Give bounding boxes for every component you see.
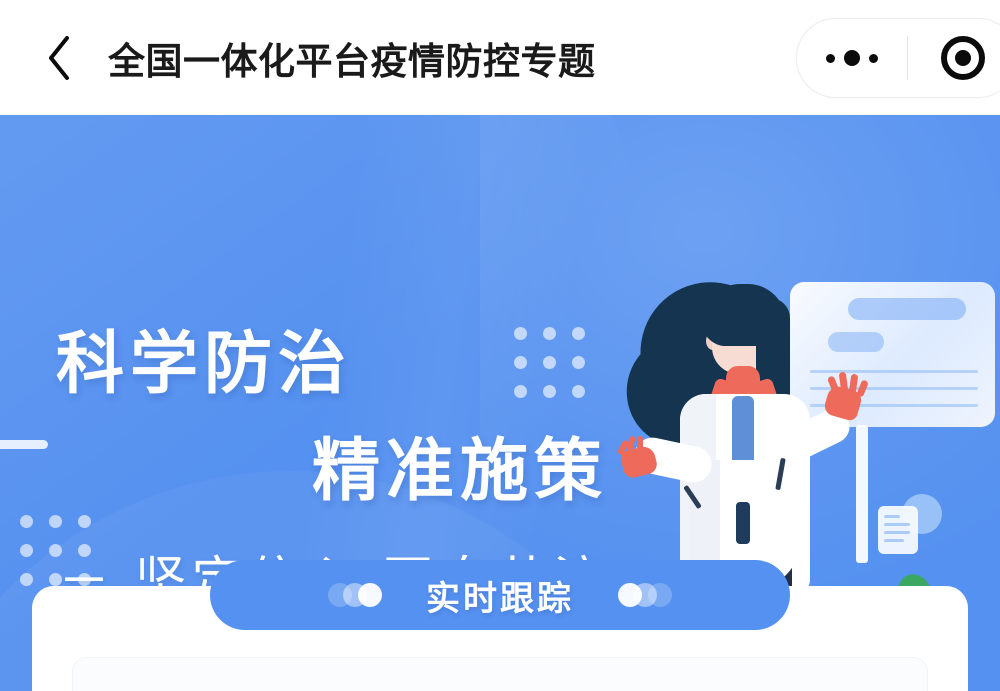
back-button[interactable] <box>30 28 88 88</box>
document-line <box>884 523 910 526</box>
ellipsis-icon[interactable] <box>797 18 907 98</box>
document-icon <box>878 506 918 554</box>
ellipsis-dot <box>826 54 835 63</box>
target-circle-icon[interactable] <box>908 18 1000 98</box>
banner-headline-secondary: 精准施策 <box>312 415 608 514</box>
signboard-bar <box>848 298 966 320</box>
nav-bar: 全国一体化平台疫情防控专题 <box>0 0 1000 115</box>
chevron-left-icon <box>45 34 73 82</box>
mini-program-capsule <box>796 18 1000 98</box>
content-card-inner-panel <box>72 657 928 691</box>
tie <box>736 502 750 544</box>
section-title: 实时跟踪 <box>426 571 574 620</box>
banner-dash-accent <box>0 440 48 449</box>
dot-trio-icon <box>328 583 382 607</box>
banner-headline-primary: 科学防治 <box>56 308 352 407</box>
ellipsis-dot <box>869 54 878 63</box>
target-ring <box>941 36 985 80</box>
section-header-realtime-tracking[interactable]: 实时跟踪 <box>210 560 790 630</box>
dot-grid-icon <box>514 327 585 398</box>
document-line <box>884 515 900 518</box>
ellipsis-dot <box>844 50 860 66</box>
target-dot <box>955 50 971 66</box>
document-line <box>884 539 904 542</box>
document-line <box>884 531 910 534</box>
page-title: 全国一体化平台疫情防控专题 <box>108 30 596 86</box>
dot-trio-icon <box>618 583 672 607</box>
